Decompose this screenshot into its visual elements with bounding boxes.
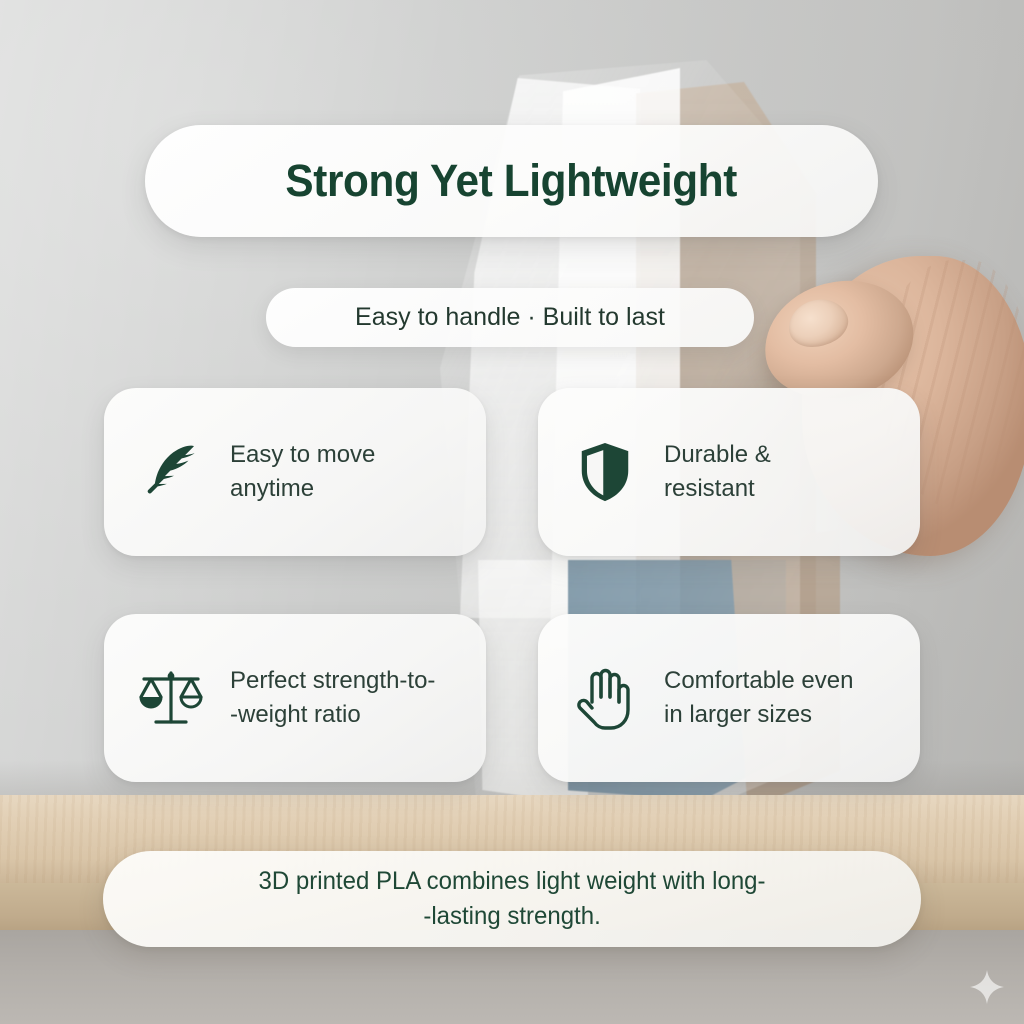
footer-banner: 3D printed PLA combines light weight wit…: [103, 851, 921, 947]
feature-card-label: Durable & resistant: [664, 438, 771, 506]
feature-card-label: Easy to move anytime: [230, 438, 375, 506]
shield-icon: [568, 435, 642, 509]
feature-card-easy-to-move[interactable]: Easy to move anytime: [104, 388, 486, 556]
scales-icon: [134, 661, 208, 735]
feather-icon: [134, 435, 208, 509]
footer-description: 3D printed PLA combines light weight wit…: [259, 864, 766, 935]
feature-card-strength-to-weight[interactable]: Perfect strength-to- -weight ratio: [104, 614, 486, 782]
product-feature-graphic: Strong Yet Lightweight Easy to handle · …: [0, 0, 1024, 1024]
hand-icon: [568, 661, 642, 735]
feature-card-comfortable-larger-sizes[interactable]: Comfortable even in larger sizes: [538, 614, 920, 782]
title-banner: Strong Yet Lightweight: [145, 125, 878, 237]
feature-card-label: Perfect strength-to- -weight ratio: [230, 664, 468, 732]
feature-card-label: Comfortable even in larger sizes: [664, 664, 853, 732]
page-title: Strong Yet Lightweight: [286, 155, 738, 207]
page-subtitle: Easy to handle · Built to last: [355, 303, 665, 332]
feature-card-durable-resistant[interactable]: Durable & resistant: [538, 388, 920, 556]
sparkle-icon: [970, 970, 1004, 1004]
subtitle-banner: Easy to handle · Built to last: [266, 288, 754, 347]
